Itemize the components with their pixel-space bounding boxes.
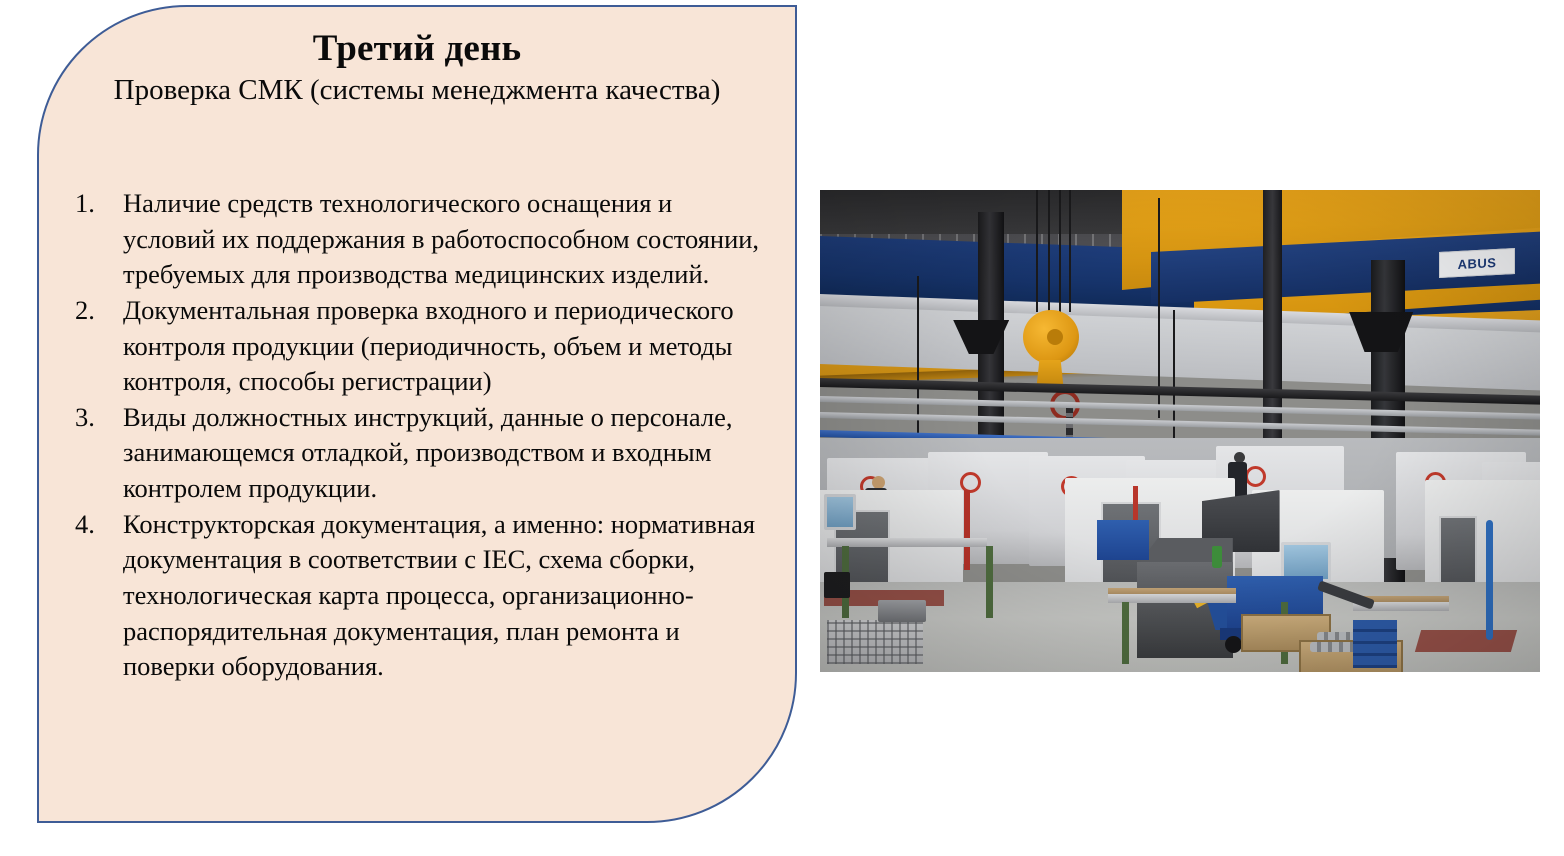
requirements-list: 1. Наличие средств технологического осна… <box>75 186 765 685</box>
hanging-cable <box>1158 198 1160 418</box>
floor-marking <box>1414 630 1516 652</box>
workbench-top <box>827 538 987 547</box>
list-item: 3. Виды должностных инструкций, данные о… <box>75 400 765 507</box>
abus-brand-label: ABUS <box>1458 254 1497 271</box>
machine-hmi-screen <box>824 494 856 530</box>
workbench-leg <box>1122 602 1129 664</box>
list-item-text: Наличие средств технологического оснащен… <box>123 186 765 293</box>
hoist-wire <box>1036 190 1038 312</box>
machine-brand-logo <box>1245 466 1266 487</box>
factory-floor-photo: ABUS <box>820 190 1540 672</box>
floor-grate-perforation <box>827 620 923 664</box>
list-item: 1. Наличие средств технологического осна… <box>75 186 765 293</box>
list-item-text: Виды должностных инструкций, данные о пе… <box>123 400 765 507</box>
tool-cart <box>1097 520 1149 560</box>
workbench-leg <box>986 546 993 618</box>
cleaner-bottle <box>1212 546 1222 568</box>
coiled-hose <box>1486 520 1493 640</box>
waste-bin <box>824 572 850 598</box>
title-block: Третий день Проверка СМК (системы менедж… <box>37 28 797 108</box>
list-item-marker: 1. <box>75 186 123 222</box>
list-item: 2. Документальная проверка входного и пе… <box>75 293 765 400</box>
machine-red-stripe <box>964 490 970 570</box>
list-item-marker: 4. <box>75 507 123 543</box>
hoist-wire <box>1069 190 1071 312</box>
list-item-text: Документальная проверка входного и перио… <box>123 293 765 400</box>
crane-hoist-hub <box>1047 329 1063 345</box>
list-item: 4. Конструкторская документация, а именн… <box>75 507 765 685</box>
tool-case <box>878 600 926 622</box>
page-subtitle: Проверка СМК (системы менеджмента качест… <box>37 73 797 107</box>
page-title: Третий день <box>37 28 797 69</box>
tool-cabinet <box>1353 620 1397 668</box>
skip-wheel <box>1225 636 1242 653</box>
abus-brand-sign: ABUS <box>1439 248 1515 278</box>
steel-column <box>1263 190 1282 440</box>
list-item-marker: 3. <box>75 400 123 436</box>
list-item-text: Конструкторская документация, а именно: … <box>123 507 765 685</box>
list-item-marker: 2. <box>75 293 123 329</box>
hoist-wire <box>1059 190 1061 312</box>
hoist-wire <box>1048 190 1050 312</box>
